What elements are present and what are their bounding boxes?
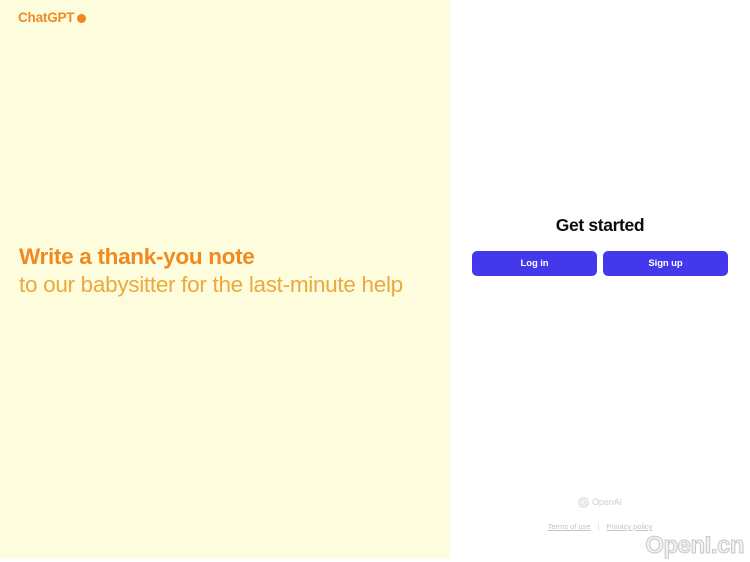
sample-prompt-rest-line: to our babysitter for the last-minute he… xyxy=(19,272,403,297)
privacy-policy-link[interactable]: Privacy policy xyxy=(607,522,653,532)
chatgpt-brand-logo[interactable]: ChatGPT xyxy=(18,11,86,25)
signup-button[interactable]: Sign up xyxy=(603,251,728,276)
openai-logo-icon xyxy=(578,497,589,508)
auth-buttons-row: Log in Sign up xyxy=(472,251,728,276)
openai-logo: OpenAI xyxy=(578,497,622,508)
openai-wordmark: OpenAI xyxy=(592,497,622,508)
terms-of-use-link[interactable]: Terms of use xyxy=(548,522,591,532)
footer-separator: | xyxy=(598,522,600,532)
sample-prompt: Write a thank-you note to our babysitter… xyxy=(19,243,419,299)
left-promo-panel: ChatGPT Write a thank-you note to our ba… xyxy=(0,0,450,558)
footer-links: Terms of use | Privacy policy xyxy=(548,522,653,532)
sample-prompt-bold-line: Write a thank-you note xyxy=(19,244,255,269)
orange-dot-icon xyxy=(77,14,86,23)
sample-prompt-text: Write a thank-you note to our babysitter… xyxy=(19,243,419,299)
chatgpt-welcome-page: ChatGPT Write a thank-you note to our ba… xyxy=(0,0,750,562)
auth-block: Get started Log in Sign up xyxy=(450,215,750,276)
login-button[interactable]: Log in xyxy=(472,251,597,276)
chatgpt-wordmark: ChatGPT xyxy=(18,11,74,25)
right-auth-panel: Get started Log in Sign up OpenAI Terms … xyxy=(450,0,750,558)
footer: OpenAI Terms of use | Privacy policy xyxy=(450,497,750,532)
get-started-heading: Get started xyxy=(556,215,645,235)
